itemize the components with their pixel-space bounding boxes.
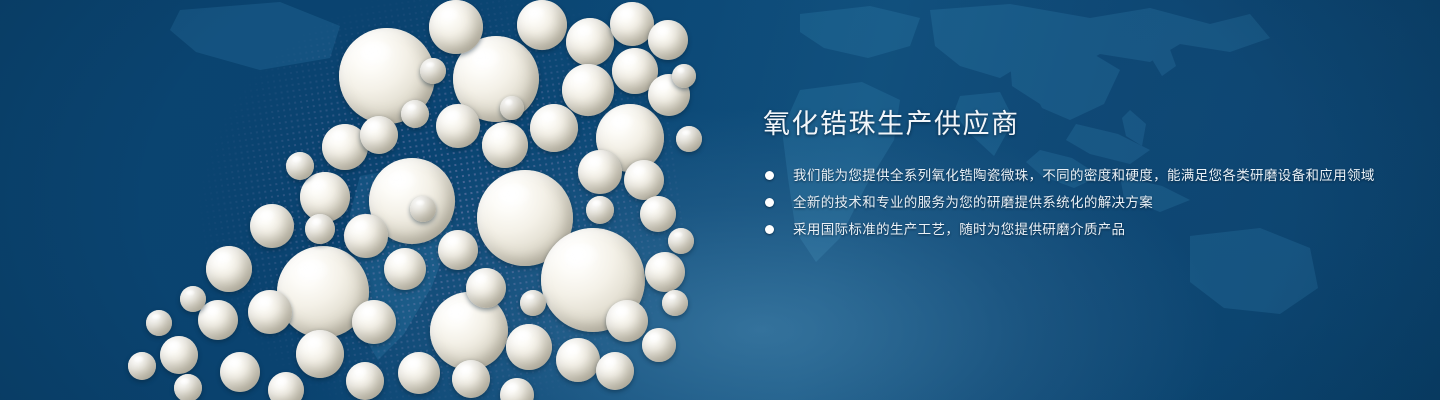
bullet-dot-icon — [765, 225, 774, 234]
hero-banner: 氧化锆珠生产供应商 我们能为您提供全系列氧化锆陶瓷微珠，不同的密度和硬度，能满足… — [0, 0, 1440, 400]
bullet-item: 全新的技术和专业的服务为您的研磨提供系统化的解决方案 — [763, 191, 1383, 214]
banner-copy: 氧化锆珠生产供应商 我们能为您提供全系列氧化锆陶瓷微珠，不同的密度和硬度，能满足… — [763, 108, 1383, 245]
zirconia-beads-image — [0, 0, 760, 400]
bullet-dot-icon — [765, 198, 774, 207]
bullet-text: 全新的技术和专业的服务为您的研磨提供系统化的解决方案 — [793, 195, 1153, 210]
bullet-text: 我们能为您提供全系列氧化锆陶瓷微珠，不同的密度和硬度，能满足您各类研磨设备和应用… — [793, 168, 1375, 183]
banner-headline: 氧化锆珠生产供应商 — [763, 108, 1383, 142]
bullet-dot-icon — [765, 171, 774, 180]
banner-bullet-list: 我们能为您提供全系列氧化锆陶瓷微珠，不同的密度和硬度，能满足您各类研磨设备和应用… — [763, 164, 1383, 241]
bullet-item: 我们能为您提供全系列氧化锆陶瓷微珠，不同的密度和硬度，能满足您各类研磨设备和应用… — [763, 164, 1383, 187]
bullet-item: 采用国际标准的生产工艺，随时为您提供研磨介质产品 — [763, 218, 1383, 241]
bullet-text: 采用国际标准的生产工艺，随时为您提供研磨介质产品 — [793, 222, 1125, 237]
